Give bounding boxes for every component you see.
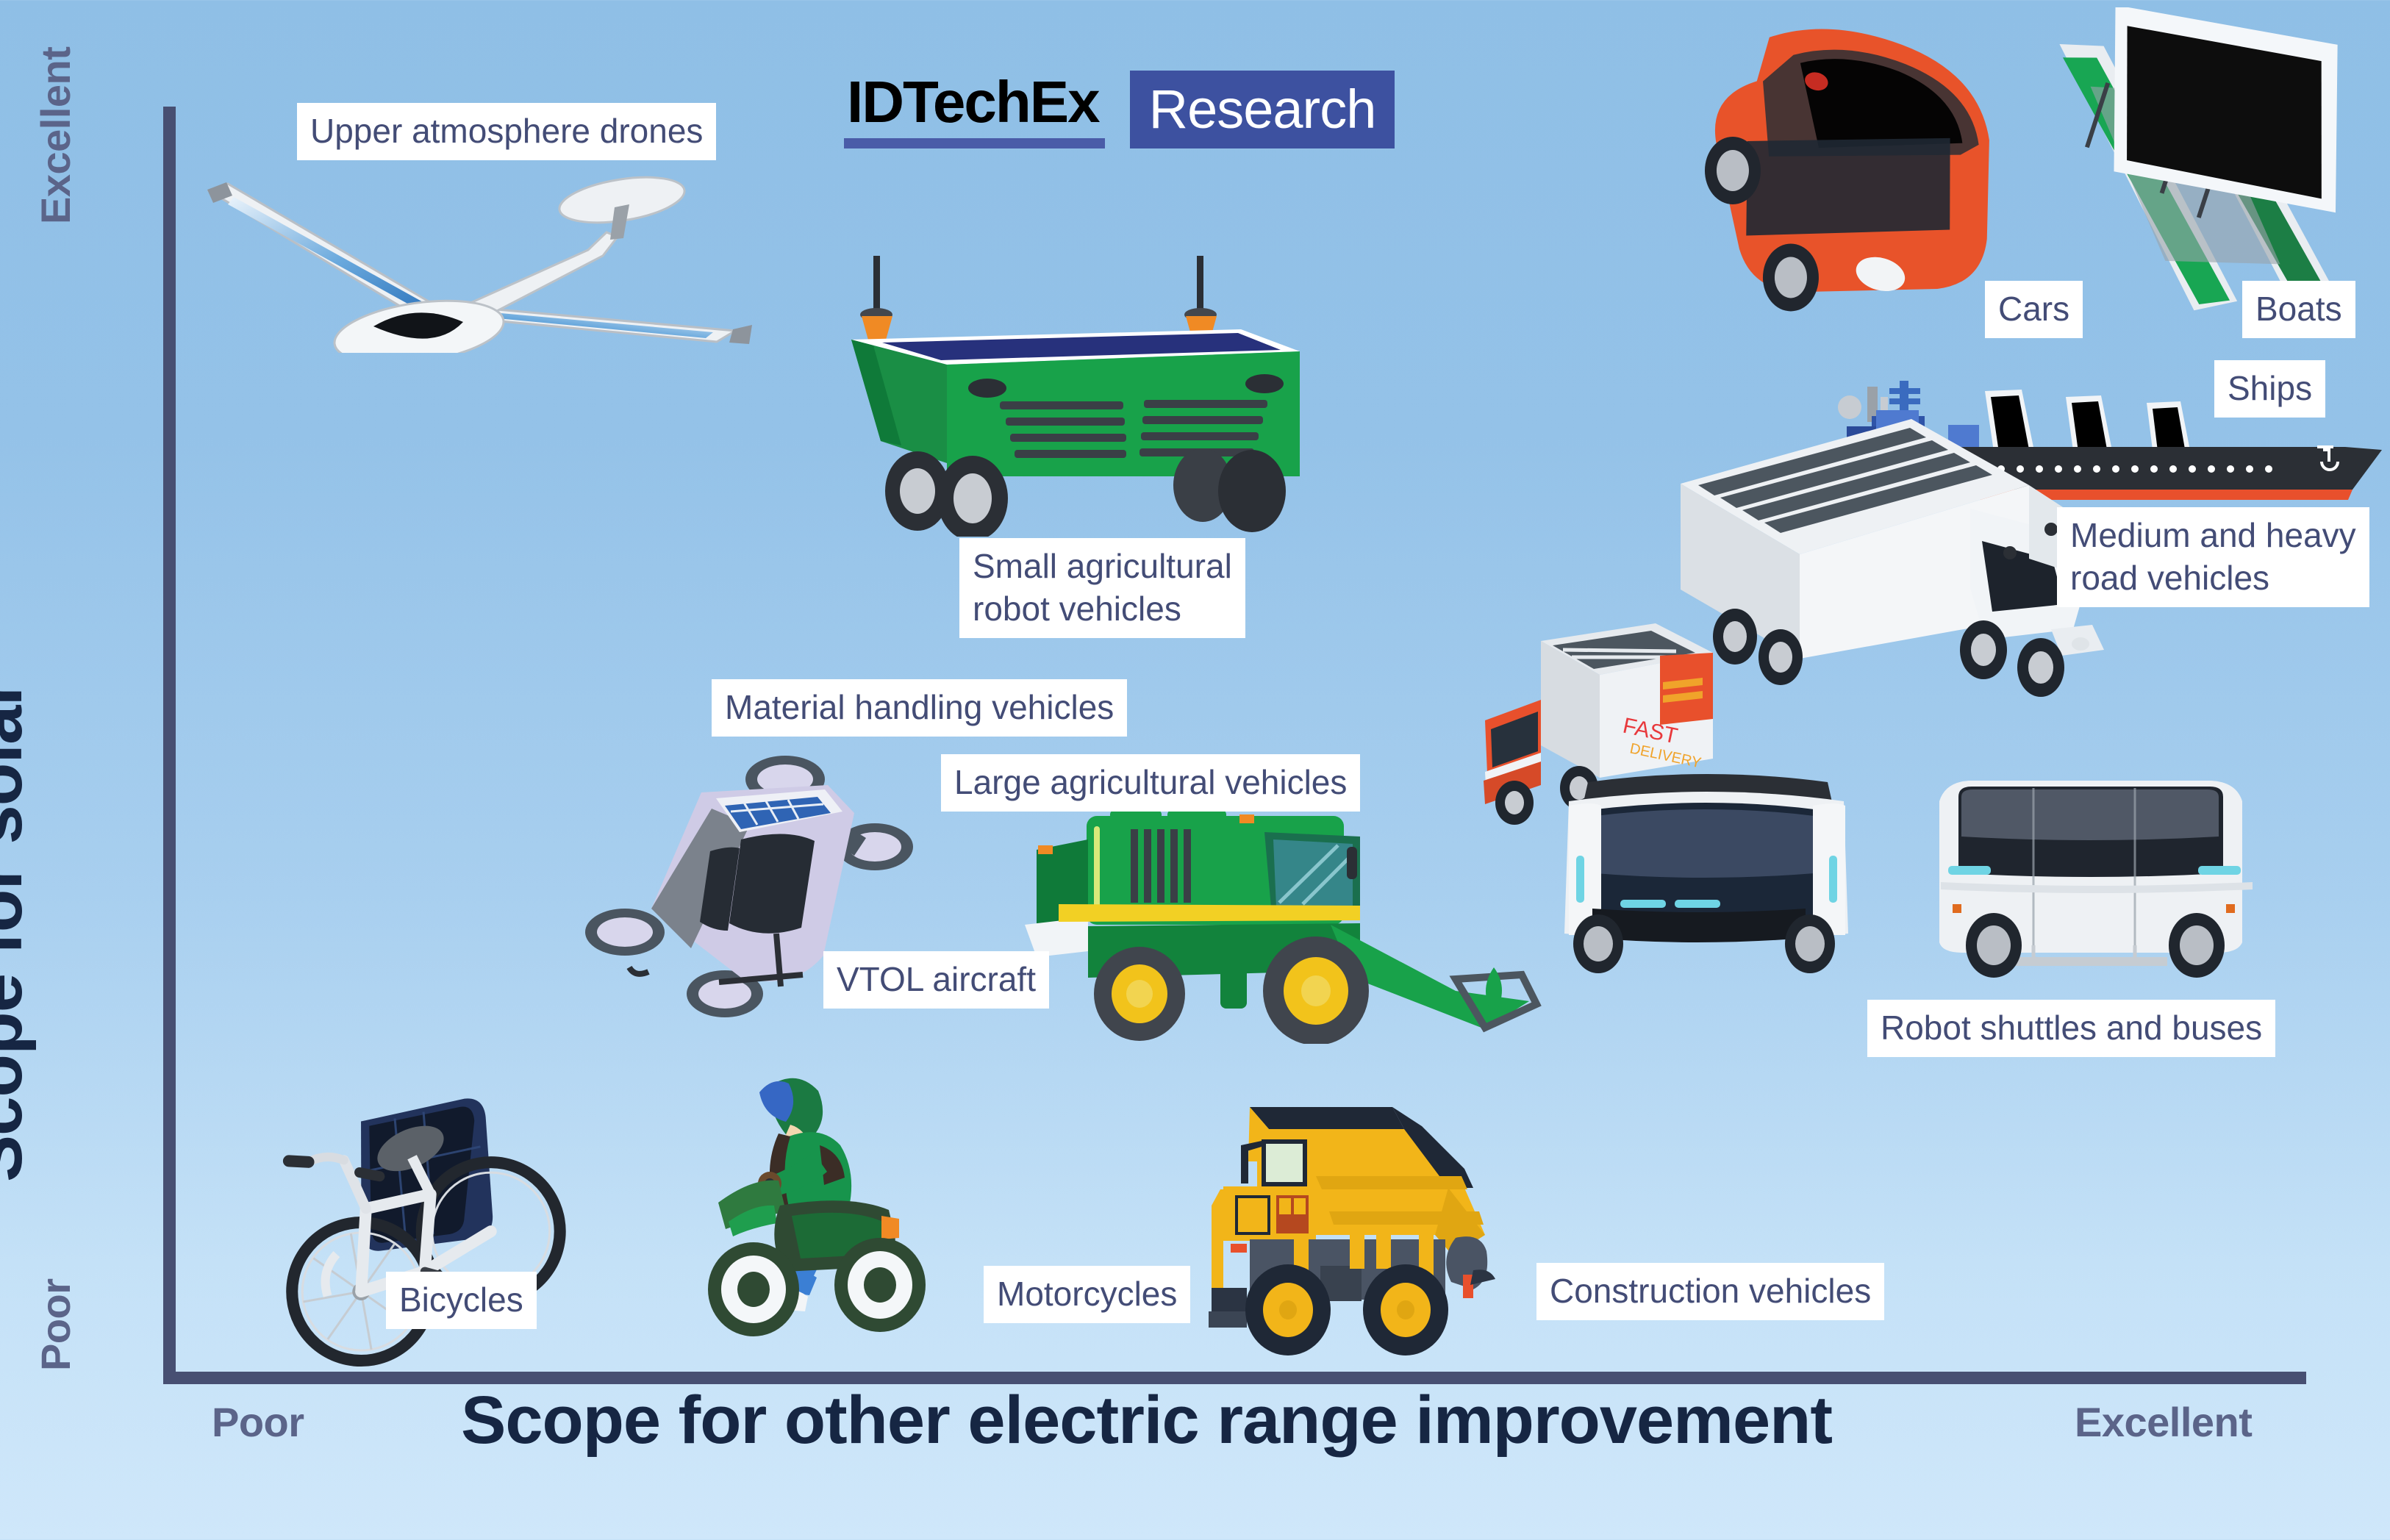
label-small-agri-robot: Small agricultural robot vehicles	[959, 538, 1245, 638]
label-construction-vehicles: Construction vehicles	[1536, 1263, 1884, 1320]
y-axis-high-label: Excellent	[32, 47, 79, 224]
label-bicycles: Bicycles	[386, 1272, 537, 1329]
solar-glider-icon	[176, 162, 765, 353]
label-vtol-aircraft: VTOL aircraft	[823, 951, 1049, 1009]
brand-research-badge: Research	[1130, 71, 1395, 148]
label-motorcycles: Motorcycles	[984, 1266, 1190, 1323]
y-axis-low-label: Poor	[32, 1278, 79, 1371]
label-large-agricultural: Large agricultural vehicles	[941, 754, 1360, 812]
label-ships: Ships	[2214, 360, 2325, 418]
y-axis-title: Scope for solar	[0, 679, 38, 1182]
combine-harvester-icon	[1015, 794, 1544, 1044]
x-axis-title: Scope for other electric range improveme…	[461, 1382, 1832, 1459]
label-material-handling: Material handling vehicles	[712, 679, 1127, 737]
y-axis-line	[163, 107, 176, 1383]
label-robot-shuttles-buses: Robot shuttles and buses	[1867, 1000, 2275, 1057]
label-boats: Boats	[2242, 281, 2355, 338]
label-medium-heavy-road: Medium and heavy road vehicles	[2057, 507, 2369, 607]
brand-logo: IDTechEx Research	[844, 71, 1395, 148]
solar-agri-robot-icon	[829, 243, 1337, 537]
robot-shuttle-icon	[1551, 764, 1867, 985]
dump-truck-icon	[1206, 1059, 1617, 1367]
brand-name-text: IDTechEx	[844, 71, 1105, 148]
robot-bus-icon	[1926, 772, 2272, 985]
label-upper-atmosphere-drones: Upper atmosphere drones	[297, 103, 716, 160]
label-cars: Cars	[1985, 281, 2083, 338]
infographic-canvas: Excellent Scope for solar Poor Poor Scop…	[0, 0, 2390, 1540]
x-axis-low-label: Poor	[212, 1398, 304, 1446]
x-axis-high-label: Excellent	[2075, 1398, 2252, 1446]
electric-motorcycle-icon	[702, 1066, 989, 1360]
